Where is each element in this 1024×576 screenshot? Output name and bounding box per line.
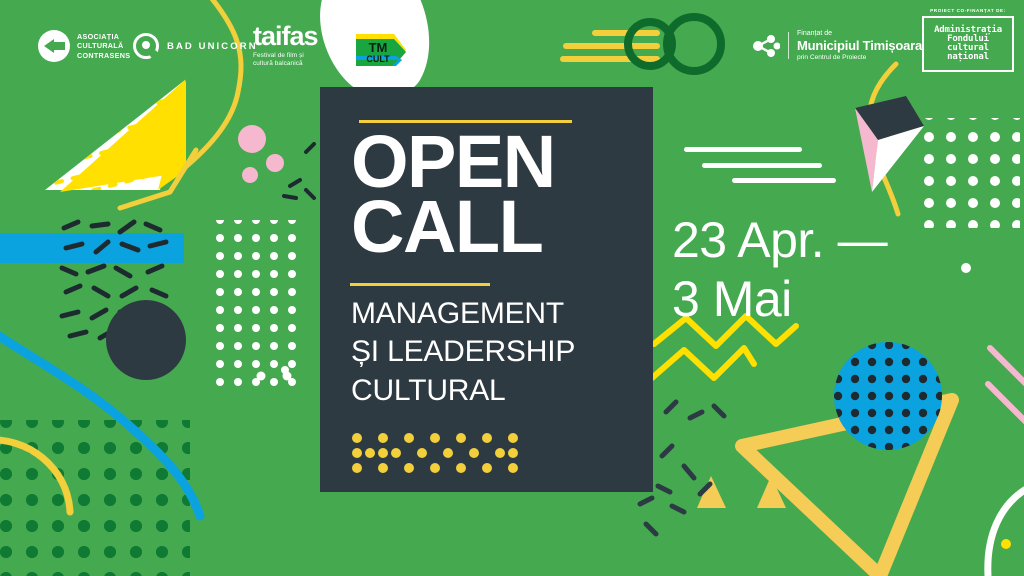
tm-cult-text-tm: TM [369, 40, 388, 55]
logo-bad-unicorn[interactable]: BAD UNICORN [133, 33, 258, 59]
timisoara-line-1: Finanțat de [797, 30, 922, 38]
logo-tm-cult[interactable]: TM CULT [352, 30, 408, 70]
bad-unicorn-wordmark: BAD UNICORN [167, 41, 258, 52]
logo-municipiul-timisoara[interactable]: Finanțat de Municipiul Timișoara prin Ce… [752, 30, 922, 62]
headline: OPEN CALL [351, 129, 555, 259]
contrasens-line-1: ASOCIAȚIA [77, 32, 130, 41]
bad-unicorn-eye-icon [133, 33, 159, 59]
taifas-wordmark: taifas [253, 24, 318, 50]
subheadline: MANAGEMENT ȘI LEADERSHIP CULTURAL [351, 295, 575, 410]
date-range-line-1: 23 Apr. — [672, 211, 887, 270]
logo-taifas[interactable]: taifas Festival de film și cultură balca… [253, 24, 318, 69]
subheadline-line-1: MANAGEMENT [351, 295, 575, 333]
contrasens-wordmark: ASOCIAȚIA CULTURALĂ CONTRASENS [77, 32, 130, 60]
contrasens-arrow-icon [38, 30, 70, 62]
afcn-cofinance-note: PROIECT CO-FINANȚAT DE: [922, 8, 1014, 13]
partner-logo-bar: ASOCIAȚIA CULTURALĂ CONTRASENS BAD UNICO… [0, 0, 1024, 90]
contrasens-line-2: CULTURALĂ [77, 41, 130, 50]
poster-canvas: ASOCIAȚIA CULTURALĂ CONTRASENS BAD UNICO… [0, 0, 1024, 576]
taifas-tagline-1: Festival de film și [253, 52, 318, 61]
contrasens-line-3: CONTRASENS [77, 51, 130, 60]
middle-rule [350, 283, 490, 286]
logo-contrasens[interactable]: ASOCIAȚIA CULTURALĂ CONTRASENS [38, 30, 130, 62]
date-range-line-2: 3 Mai [672, 270, 887, 329]
headline-line-call: CALL [351, 194, 555, 259]
headline-panel: OPEN CALL MANAGEMENT ȘI LEADERSHIP CULTU… [320, 87, 653, 492]
subheadline-line-3: CULTURAL [351, 372, 575, 410]
timisoara-divider [788, 32, 789, 59]
tm-cult-text-cult: CULT [366, 54, 390, 64]
timisoara-line-2: Municipiul Timișoara [797, 38, 922, 54]
yellow-dot-grid [351, 432, 529, 474]
subheadline-line-2: ȘI LEADERSHIP [351, 333, 575, 371]
afcn-line-4: național [947, 53, 989, 62]
timisoara-wordmark: Finanțat de Municipiul Timișoara prin Ce… [797, 30, 922, 62]
taifas-tagline-2: cultură balcanică [253, 60, 318, 69]
timisoara-line-3: prin Centrul de Proiecte [797, 54, 922, 62]
tm-cult-mark-icon: TM CULT [352, 30, 408, 70]
taifas-tagline: Festival de film și cultură balcanică [253, 52, 318, 69]
logo-afcn[interactable]: PROIECT CO-FINANȚAT DE: Administrația Fo… [922, 8, 1014, 72]
afcn-mark-icon: Administrația Fondului cultural național [922, 16, 1014, 72]
timisoara-network-icon [752, 33, 780, 59]
date-range: 23 Apr. — 3 Mai [672, 211, 887, 329]
